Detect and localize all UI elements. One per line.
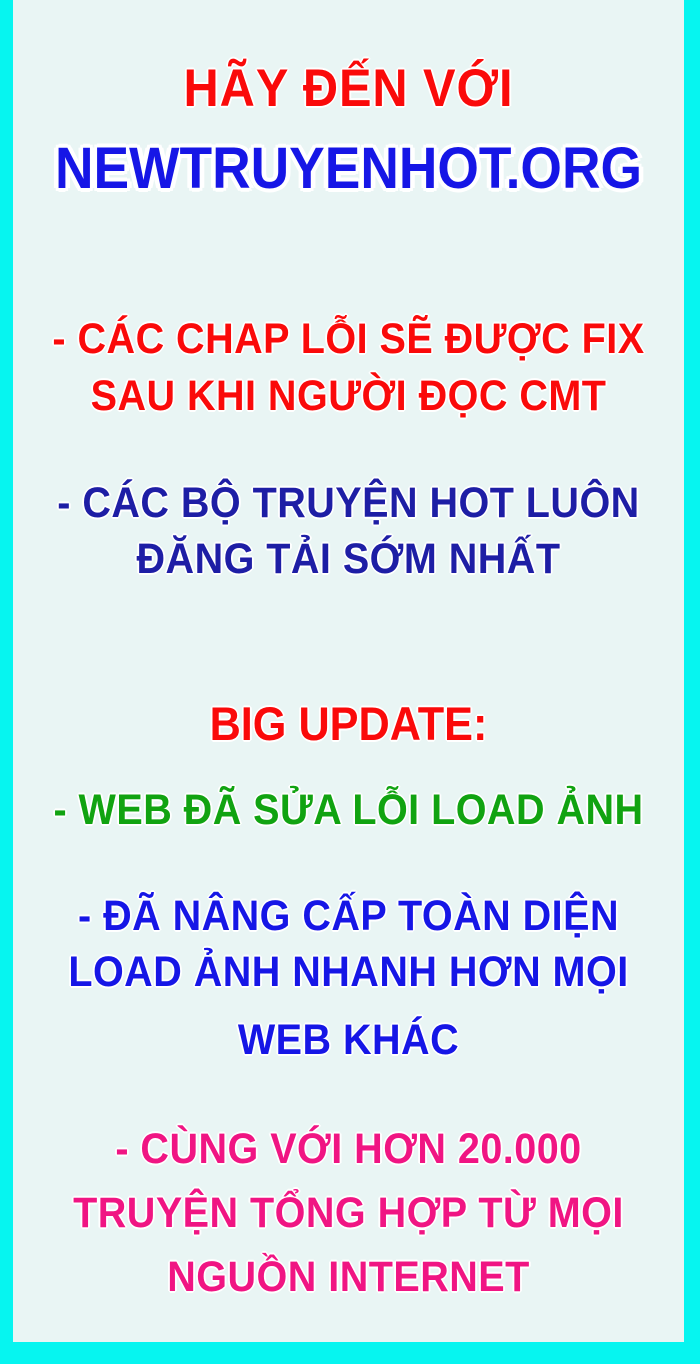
update-upgrade-line-3: WEB KHÁC xyxy=(40,1019,657,1062)
update-upgrade-line-2: LOAD ẢNH NHANH HƠN MỌI xyxy=(40,951,657,994)
notice-fix-line-1: - CÁC CHAP LỖI SẼ ĐƯỢC FIX xyxy=(40,318,657,361)
frame-stripe-left xyxy=(0,0,13,1364)
promo-banner: HÃY ĐẾN VỚI NEWTRUYENHOT.ORG - CÁC CHAP … xyxy=(0,0,700,1368)
update-library-line-1: - CÙNG VỚI HƠN 20.000 xyxy=(40,1128,657,1171)
big-update-heading: BIG UPDATE: xyxy=(40,700,657,747)
notice-hot-line-2: ĐĂNG TẢI SỚM NHẤT xyxy=(40,538,657,581)
site-name-headline[interactable]: NEWTRUYENHOT.ORG xyxy=(40,140,657,198)
update-library-line-2: TRUYỆN TỔNG HỢP TỪ MỌI xyxy=(40,1192,657,1235)
frame-stripe-right xyxy=(684,0,700,1364)
update-library-line-3: NGUỒN INTERNET xyxy=(40,1256,657,1299)
update-image-fix-line-1: - WEB ĐÃ SỬA LỖI LOAD ẢNH xyxy=(40,789,657,832)
headline-line-1: HÃY ĐẾN VỚI xyxy=(40,62,657,115)
update-upgrade-line-1: - ĐÃ NÂNG CẤP TOÀN DIỆN xyxy=(40,895,657,938)
notice-hot-line-1: - CÁC BỘ TRUYỆN HOT LUÔN xyxy=(40,482,657,525)
banner-canvas: HÃY ĐẾN VỚI NEWTRUYENHOT.ORG - CÁC CHAP … xyxy=(13,0,684,1342)
notice-fix-line-2: SAU KHI NGƯỜI ĐỌC CMT xyxy=(40,375,657,418)
frame-stripe-bottom xyxy=(0,1342,700,1364)
